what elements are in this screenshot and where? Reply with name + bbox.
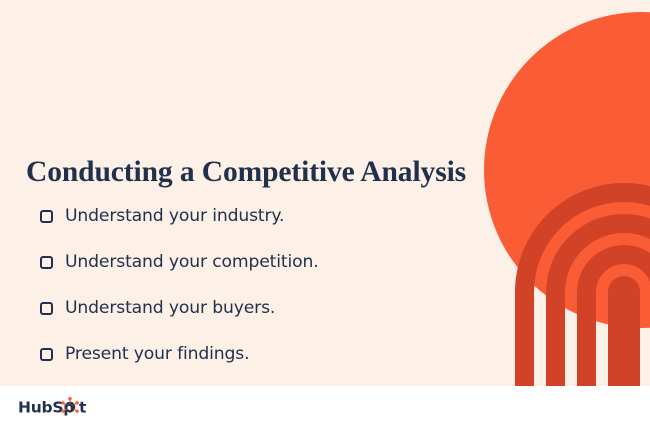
hubspot-wordmark: HubSp t <box>18 396 110 418</box>
list-item-label: Present your findings. <box>65 344 249 364</box>
slide-content: Conducting a Competitive Analysis Unders… <box>0 0 650 433</box>
checkbox-empty-icon[interactable] <box>40 302 53 315</box>
list-item[interactable]: Understand your competition. <box>40 239 319 285</box>
list-item-label: Understand your competition. <box>65 252 319 272</box>
list-item[interactable]: Present your findings. <box>40 331 319 377</box>
hubspot-wordmark-text-2: t <box>79 399 87 417</box>
list-item-label: Understand your industry. <box>65 206 284 226</box>
page-title: Conducting a Competitive Analysis <box>26 156 466 189</box>
list-item-label: Understand your buyers. <box>65 298 275 318</box>
checkbox-empty-icon[interactable] <box>40 348 53 361</box>
slide-canvas: Conducting a Competitive Analysis Unders… <box>0 0 650 433</box>
checklist: Understand your industry. Understand you… <box>40 193 319 377</box>
list-item[interactable]: Understand your industry. <box>40 193 319 239</box>
checkbox-empty-icon[interactable] <box>40 210 53 223</box>
hubspot-logo[interactable]: HubSp t <box>18 396 110 418</box>
list-item[interactable]: Understand your buyers. <box>40 285 319 331</box>
checkbox-empty-icon[interactable] <box>40 256 53 269</box>
